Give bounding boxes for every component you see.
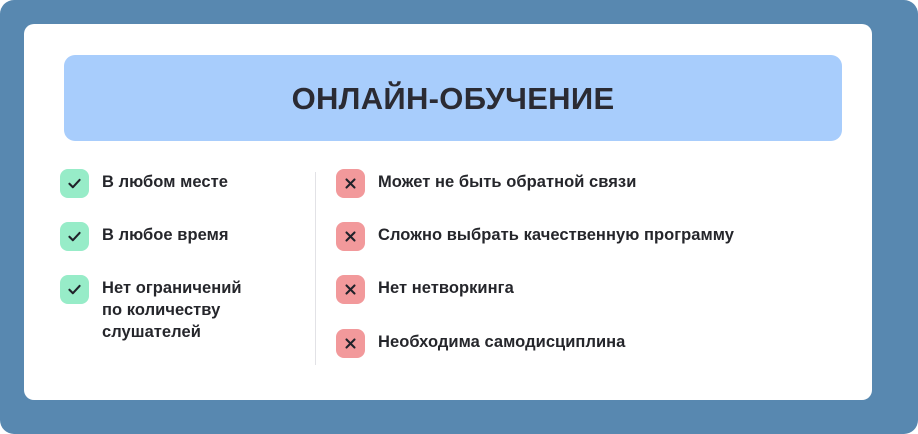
check-icon [60, 275, 89, 304]
list-item[interactable]: Нет ограничений по количеству слушателей [60, 274, 242, 344]
check-icon [60, 169, 89, 198]
outer-frame: ОНЛАЙН-ОБУЧЕНИЕ В любом месте [0, 0, 918, 434]
info-card: ОНЛАЙН-ОБУЧЕНИЕ В любом месте [24, 24, 872, 400]
list-item[interactable]: В любое время [60, 221, 229, 251]
list-item[interactable]: Может не быть обратной связи [336, 168, 636, 198]
check-icon [60, 222, 89, 251]
list-item-label: Необходима самодисциплина [378, 328, 625, 354]
list-item-label: Нет ограничений по количеству слушателей [102, 274, 242, 344]
list-item[interactable]: Сложно выбрать качественную программу [336, 221, 734, 251]
list-item[interactable]: Нет нетворкинга [336, 274, 514, 304]
cross-icon [336, 169, 365, 198]
list-item[interactable]: В любом месте [60, 168, 228, 198]
cross-icon [336, 275, 365, 304]
list-item[interactable]: Необходима самодисциплина [336, 328, 625, 358]
list-item-label: Нет нетворкинга [378, 274, 514, 300]
comparison-columns: В любом месте В любое время [24, 155, 872, 385]
cross-icon [336, 329, 365, 358]
column-divider [315, 172, 316, 365]
list-item-label: Может не быть обратной связи [378, 168, 636, 194]
cross-icon [336, 222, 365, 251]
list-item-label: В любом месте [102, 168, 228, 194]
page-title: ОНЛАЙН-ОБУЧЕНИЕ [292, 83, 615, 114]
list-item-label: В любое время [102, 221, 229, 247]
list-item-label: Сложно выбрать качественную программу [378, 221, 734, 247]
header-banner: ОНЛАЙН-ОБУЧЕНИЕ [64, 55, 842, 141]
